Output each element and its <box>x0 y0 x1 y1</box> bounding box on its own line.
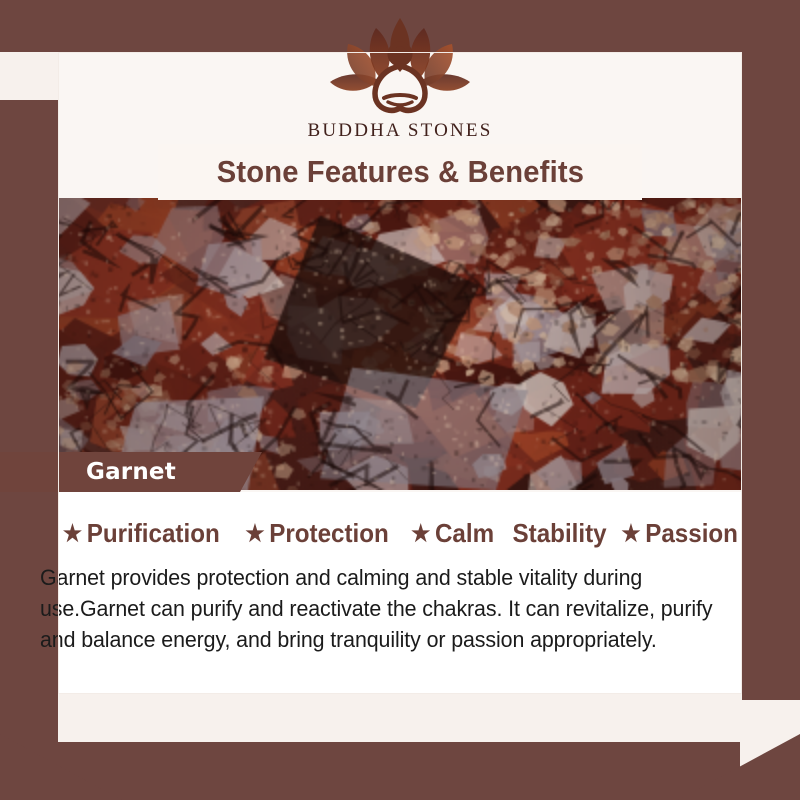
benefit-protection: ★Protection <box>245 518 388 549</box>
benefit-stability: ★Stability <box>513 518 607 549</box>
star-icon: ★ <box>411 522 430 545</box>
benefit-label: Purification <box>87 518 220 549</box>
brand-logo: BUDDHA STONES <box>0 14 800 142</box>
stone-info-poster: BUDDHA STONES Stone Features & Benefits … <box>0 0 800 800</box>
benefit-label: Stability <box>513 518 607 549</box>
garnet-crystal-cluster-photo <box>0 198 800 490</box>
benefit-label: Calm <box>435 518 494 549</box>
benefit-calm: ★Calm <box>411 518 494 549</box>
stone-name: Garnet <box>86 459 176 485</box>
page-title: Stone Features & Benefits <box>216 154 583 190</box>
brand-name: BUDDHA STONES <box>0 120 800 142</box>
benefit-label: Passion <box>646 518 739 549</box>
benefit-label: Protection <box>269 518 389 549</box>
benefit-passion: ★Passion <box>622 518 739 549</box>
stone-name-banner: Garnet <box>0 452 262 492</box>
benefits-list: ★Purification★Protection★Calm★Stability★… <box>42 518 758 549</box>
lotus-meditation-figure-icon <box>314 14 486 118</box>
benefit-purification: ★Purification <box>63 518 220 549</box>
stone-description-text: Garnet provides protection and calming a… <box>40 562 724 655</box>
star-icon: ★ <box>622 522 641 545</box>
stone-description-panel: ★Purification★Protection★Calm★Stability★… <box>58 492 742 694</box>
star-icon: ★ <box>245 522 264 545</box>
star-icon: ★ <box>63 522 82 545</box>
page-title-band: Stone Features & Benefits <box>158 144 642 200</box>
gemstone-image-canvas <box>0 198 800 490</box>
